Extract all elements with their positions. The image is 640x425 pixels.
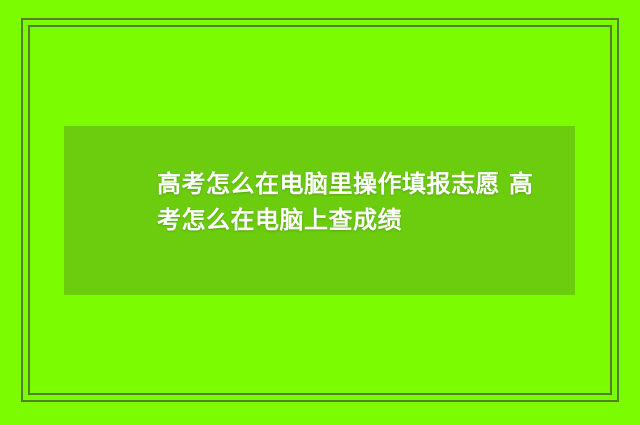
banner-canvas: 高考怎么在电脑里操作填报志愿 高考怎么在电脑上查成绩 <box>0 0 640 425</box>
headline-text: 高考怎么在电脑里操作填报志愿 高考怎么在电脑上查成绩 <box>157 166 557 238</box>
